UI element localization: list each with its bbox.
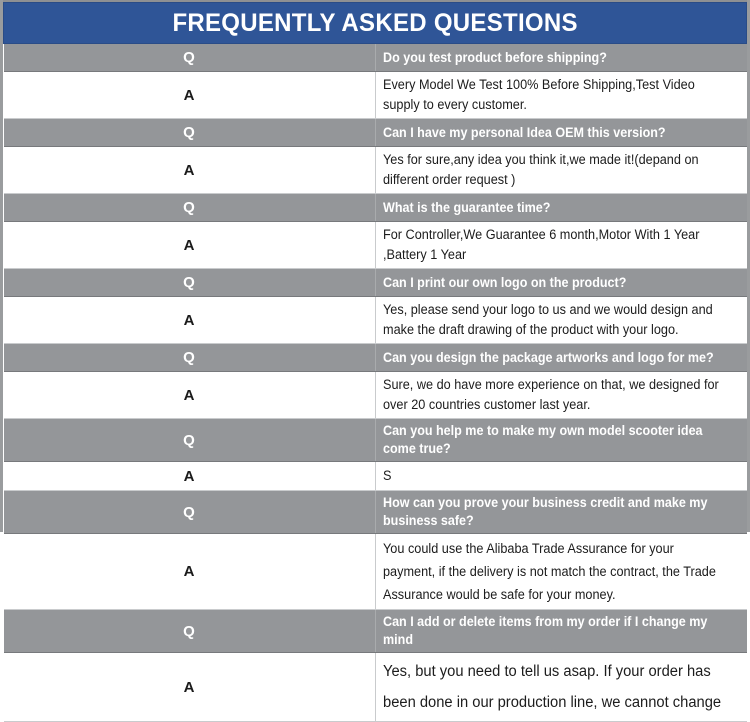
answer-text-cell: Yes, but you need to tell us asap. If yo… [375,653,747,722]
answer-text-cell: Yes, please send your logo to us and we … [375,297,747,344]
question-text: Can I add or delete items from my order … [383,613,716,649]
question-text: Can I have my personal Idea OEM this ver… [383,124,666,142]
answer-text-cell: Every Model We Test 100% Before Shipping… [375,72,747,119]
answer-text: For Controller,We Guarantee 6 month,Moto… [383,225,720,265]
question-text-cell: What is the guarantee time? [375,194,747,222]
question-text-cell: Can you design the package artworks and … [375,344,747,372]
answer-text-cell: Yes for sure,any idea you think it,we ma… [375,147,747,194]
answer-label: A [4,372,376,419]
answer-text: Yes for sure,any idea you think it,we ma… [383,150,720,190]
answer-text: Every Model We Test 100% Before Shipping… [383,75,720,115]
faq-question-row: Q Can you help me to make my own model s… [4,419,747,462]
question-text-cell: Can I add or delete items from my order … [375,610,747,653]
question-text: Can you design the package artworks and … [383,349,714,367]
answer-label: A [4,534,376,610]
question-text: How can you prove your business credit a… [383,494,716,530]
question-label: Q [4,119,376,147]
question-text: Can you help me to make my own model sco… [383,422,716,458]
faq-question-row: Q Do you test product before shipping? [4,44,747,72]
question-text-cell: Can you help me to make my own model sco… [375,419,747,462]
question-label: Q [4,419,376,462]
faq-answer-row: A Every Model We Test 100% Before Shippi… [4,72,747,119]
faq-answer-row: A Yes for sure,any idea you think it,we … [4,147,747,194]
answer-text: You could use the Alibaba Trade Assuranc… [383,537,720,606]
question-text: Can I print our own logo on the product? [383,274,626,292]
faq-answer-row: A Sure, we do have more experience on th… [4,372,747,419]
faq-panel: FREQUENTLY ASKED QUESTIONS Q Do you test… [0,0,750,532]
faq-question-row: Q Can you design the package artworks an… [4,344,747,372]
question-text-cell: Do you test product before shipping? [375,44,747,72]
question-text-cell: How can you prove your business credit a… [375,491,747,534]
answer-text-cell: You could use the Alibaba Trade Assuranc… [375,534,747,610]
faq-title-text: FREQUENTLY ASKED QUESTIONS [172,3,577,43]
faq-question-row: Q How can you prove your business credit… [4,491,747,534]
answer-label: A [4,222,376,269]
answer-label: A [4,462,376,491]
answer-label: A [4,147,376,194]
answer-label: A [4,72,376,119]
faq-title: FREQUENTLY ASKED QUESTIONS [4,3,747,44]
faq-table: FREQUENTLY ASKED QUESTIONS Q Do you test… [3,2,747,722]
question-text-cell: Can I have my personal Idea OEM this ver… [375,119,747,147]
faq-title-row: FREQUENTLY ASKED QUESTIONS [4,3,747,44]
answer-text: Yes, please send your logo to us and we … [383,300,720,340]
faq-answer-row: A You could use the Alibaba Trade Assura… [4,534,747,610]
question-text: Do you test product before shipping? [383,49,607,67]
question-label: Q [4,610,376,653]
faq-question-row: Q What is the guarantee time? [4,194,747,222]
faq-answer-row: A S [4,462,747,491]
answer-label: A [4,297,376,344]
faq-answer-row: A Yes, but you need to tell us asap. If … [4,653,747,722]
faq-question-row: Q Can I print our own logo on the produc… [4,269,747,297]
question-label: Q [4,344,376,372]
question-label: Q [4,491,376,534]
faq-answer-row: A For Controller,We Guarantee 6 month,Mo… [4,222,747,269]
answer-text-cell: For Controller,We Guarantee 6 month,Moto… [375,222,747,269]
question-label: Q [4,194,376,222]
question-text: What is the guarantee time? [383,199,550,217]
question-text-cell: Can I print our own logo on the product? [375,269,747,297]
answer-text: Sure, we do have more experience on that… [383,375,720,415]
faq-table-body: FREQUENTLY ASKED QUESTIONS Q Do you test… [4,3,747,722]
answer-text: Yes, but you need to tell us asap. If yo… [383,656,723,718]
answer-text-cell: S [375,462,747,491]
answer-text-cell: Sure, we do have more experience on that… [375,372,747,419]
answer-label: A [4,653,376,722]
faq-answer-row: A Yes, please send your logo to us and w… [4,297,747,344]
answer-text: S [383,466,391,486]
faq-question-row: Q Can I add or delete items from my orde… [4,610,747,653]
faq-question-row: Q Can I have my personal Idea OEM this v… [4,119,747,147]
question-label: Q [4,44,376,72]
question-label: Q [4,269,376,297]
